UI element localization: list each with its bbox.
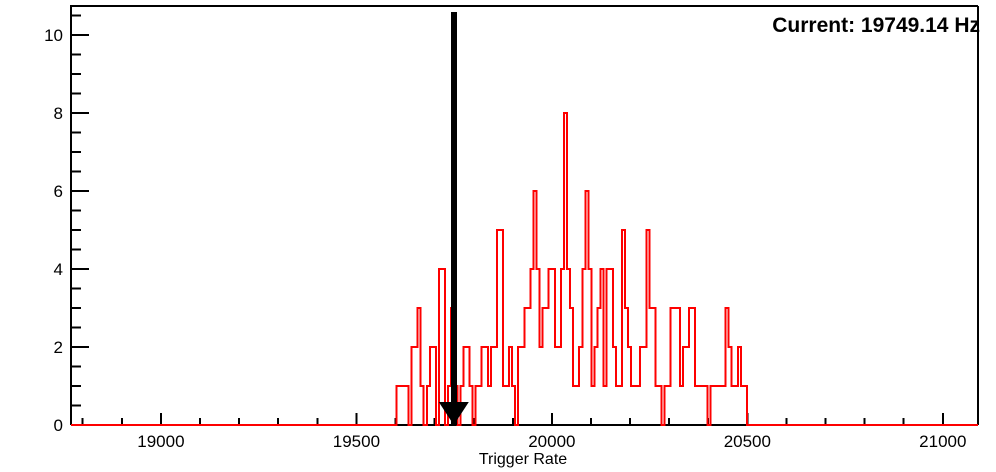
y-axis-ticks: 0246810 bbox=[44, 16, 89, 435]
y-tick-label: 2 bbox=[54, 338, 63, 357]
y-tick-label: 4 bbox=[54, 260, 63, 279]
histogram-series bbox=[71, 113, 978, 425]
x-axis-ticks: 1900019500200002050021000 bbox=[83, 413, 967, 451]
histogram-outline bbox=[71, 113, 978, 425]
arrow-head bbox=[439, 402, 469, 425]
x-axis-title: Trigger Rate bbox=[479, 451, 567, 468]
y-tick-label: 10 bbox=[44, 26, 63, 45]
x-tick-label: 20500 bbox=[724, 432, 771, 451]
y-tick-label: 0 bbox=[54, 416, 63, 435]
plot-frame-lines bbox=[71, 6, 978, 425]
x-tick-label: 20000 bbox=[528, 432, 575, 451]
current-rate-readout: Current: 19749.14 Hz bbox=[772, 14, 980, 38]
histogram-plot: 1900019500200002050021000 0246810 Trigge… bbox=[0, 0, 996, 472]
root-canvas: 1900019500200002050021000 0246810 Trigge… bbox=[0, 0, 996, 472]
plot-frame bbox=[71, 6, 978, 425]
x-tick-label: 19000 bbox=[137, 432, 184, 451]
x-tick-label: 21000 bbox=[919, 432, 966, 451]
x-tick-label: 19500 bbox=[333, 432, 380, 451]
y-tick-label: 6 bbox=[54, 182, 63, 201]
y-tick-label: 8 bbox=[54, 104, 63, 123]
